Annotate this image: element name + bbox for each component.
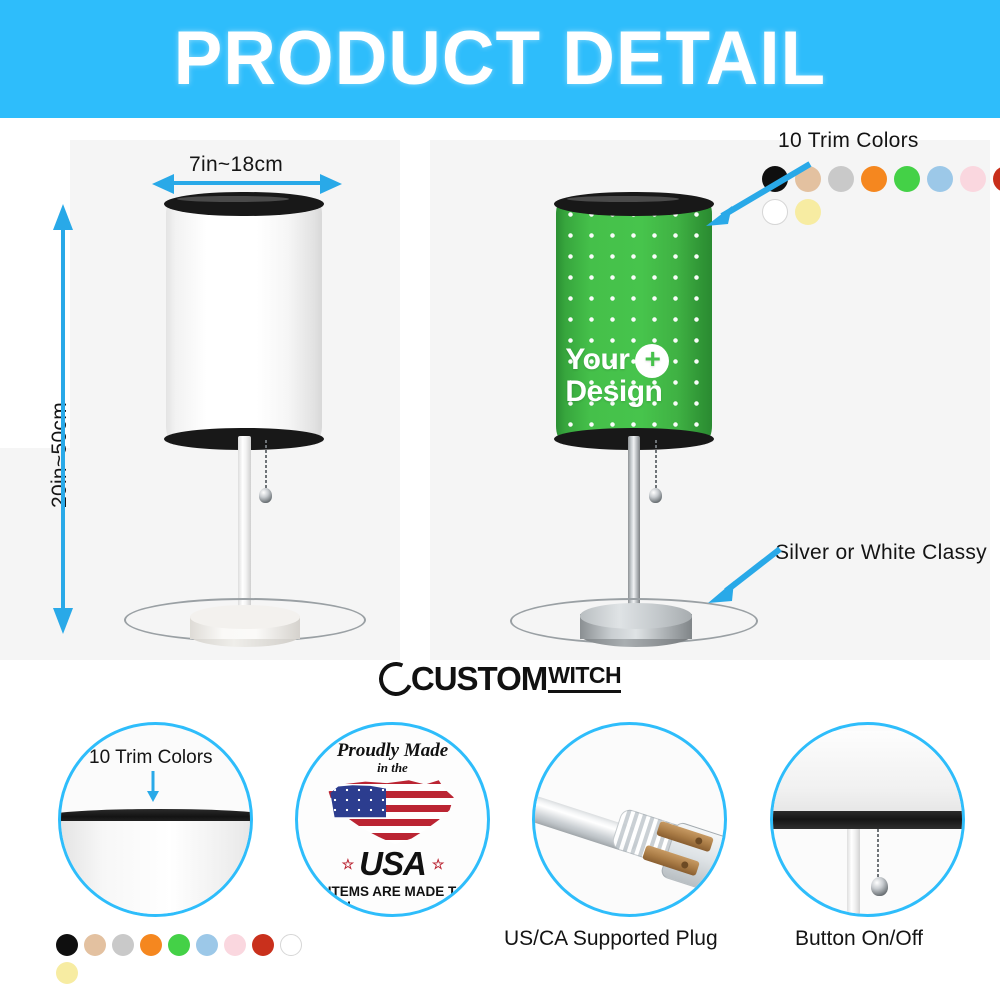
pull-chain[interactable] <box>265 440 267 492</box>
pull-chain-ball[interactable] <box>649 488 662 503</box>
swatch-orange[interactable] <box>140 934 162 956</box>
brand-logo: CUSTOM WITCH <box>0 660 1000 698</box>
swatch-gray[interactable] <box>112 934 134 956</box>
your-design-placeholder[interactable]: Your + Design <box>565 344 669 407</box>
swatch-pink[interactable] <box>224 934 246 956</box>
swatch-red[interactable] <box>252 934 274 956</box>
plug-caption: US/CA Supported Plug <box>504 927 718 951</box>
design-text-line1: Your <box>565 346 629 375</box>
trim-color-swatches-bottom[interactable] <box>56 934 306 984</box>
feature-circle-trim-colors: 10 Trim Colors <box>58 722 253 917</box>
pull-chain[interactable] <box>655 440 657 492</box>
usa-sub-text: ALL ITEMS ARE MADE TO ORDER! <box>298 884 487 914</box>
swatch-green[interactable] <box>168 934 190 956</box>
lamp-pole-sample <box>847 829 860 917</box>
star-icon-right: ☆ <box>432 856 444 873</box>
trim-colors-inner-label: 10 Trim Colors <box>89 747 213 769</box>
swatch-white[interactable] <box>280 934 302 956</box>
usa-top-line1: Proudly Made <box>337 740 448 761</box>
custom-lamp-pole <box>628 436 640 624</box>
swatch-green[interactable] <box>894 166 920 192</box>
white-lamp-shade <box>166 200 322 440</box>
button-caption: Button On/Off <box>795 927 923 951</box>
logo-primary-text: CUSTOM <box>411 660 547 698</box>
swatch-light-blue[interactable] <box>927 166 953 192</box>
usa-top-line2: in the <box>337 761 448 774</box>
feature-row: 10 Trim Colors Proudly Made in the <box>0 712 1000 1000</box>
swatch-yellow[interactable] <box>56 962 78 984</box>
base-finish-callout-label: Silver or White Classy <box>775 541 987 565</box>
trim-band-sample <box>770 811 965 829</box>
swatch-light-blue[interactable] <box>196 934 218 956</box>
swatch-black[interactable] <box>56 934 78 956</box>
pull-chain-ball[interactable] <box>871 877 888 896</box>
trim-colors-callout-label: 10 Trim Colors <box>778 129 919 153</box>
base-finish-arrow <box>700 543 790 608</box>
feature-circle-plug <box>532 722 727 917</box>
star-icon-left: ☆ <box>342 856 354 873</box>
swatch-gray[interactable] <box>828 166 854 192</box>
pull-chain[interactable] <box>877 829 879 881</box>
shade-sample-surface <box>58 821 253 917</box>
usa-word-row: ☆ USA ☆ <box>342 845 444 883</box>
white-lamp <box>0 118 420 658</box>
white-lamp-pole <box>238 436 251 624</box>
usa-flag-canton <box>329 785 389 819</box>
trim-colors-arrow <box>688 158 818 233</box>
base-top <box>580 603 692 629</box>
design-text-line2: Design <box>565 378 662 407</box>
swatch-pink[interactable] <box>960 166 986 192</box>
power-plug-icon <box>535 725 727 917</box>
feature-circle-made-in-usa: Proudly Made in the ☆ USA ☆ ALL ITEMS AR… <box>295 722 490 917</box>
swatch-red[interactable] <box>993 166 1000 192</box>
white-lamp-base <box>190 605 300 647</box>
swatch-orange[interactable] <box>861 166 887 192</box>
pull-chain-ball[interactable] <box>259 488 272 503</box>
shade-top-trim <box>164 192 324 216</box>
usa-word: USA <box>359 845 426 883</box>
trim-colors-down-arrow <box>143 771 163 803</box>
shade-bottom-sample <box>770 731 965 813</box>
usa-badge: Proudly Made in the ☆ USA ☆ ALL ITEMS AR… <box>298 725 487 914</box>
feature-circle-button <box>770 722 965 917</box>
logo-secondary-text: WITCH <box>548 662 621 693</box>
custom-lamp-base <box>580 603 692 647</box>
product-stage: 7in~18cm 20in~50cm <box>0 118 1000 658</box>
page-header-banner: PRODUCT DETAIL <box>0 0 1000 118</box>
trim-highlight <box>177 196 289 202</box>
plus-circle-icon[interactable]: + <box>635 344 669 378</box>
design-line-1: Your + <box>565 344 669 378</box>
custom-lamp-shade[interactable]: Your + Design <box>556 200 712 440</box>
swatch-tan[interactable] <box>84 934 106 956</box>
shade-surface <box>166 200 322 440</box>
design-line-2: Design <box>565 378 669 407</box>
usa-map-flag-icon <box>325 776 461 847</box>
page-title: PRODUCT DETAIL <box>174 21 826 97</box>
prong-hole <box>680 861 689 870</box>
trim-highlight <box>567 196 679 202</box>
prong-hole <box>694 837 703 846</box>
usa-badge-top-text: Proudly Made in the <box>337 741 448 774</box>
